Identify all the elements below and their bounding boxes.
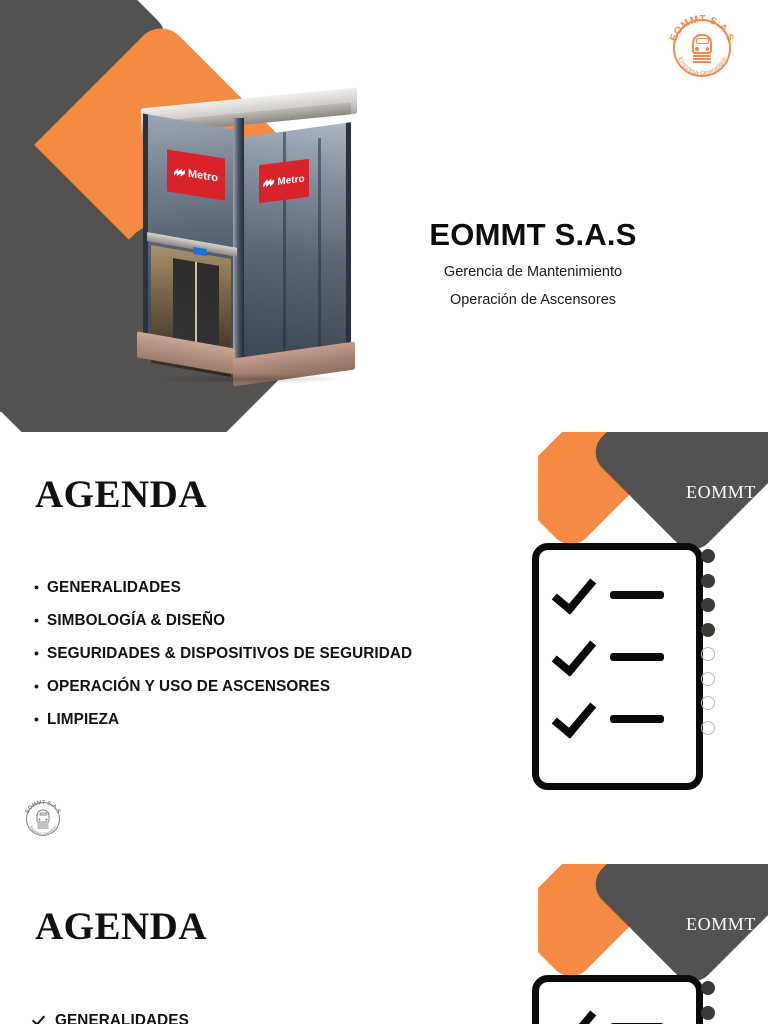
list-item[interactable]: • GENERALIDADES: [34, 580, 514, 596]
checklist-row: [558, 695, 664, 735]
metro-logo-glyph-icon: [174, 168, 185, 178]
metro-sign: Metro: [167, 149, 225, 200]
train-window: [39, 812, 47, 816]
metro-train-icon: [690, 33, 714, 63]
metro-sign: Metro: [259, 159, 309, 203]
train-rail: [693, 61, 711, 63]
binder-dot-hollow: [701, 721, 715, 735]
metro-sign-label: Metro: [188, 168, 218, 185]
checklist-line: [610, 653, 664, 661]
train-window: [696, 38, 709, 44]
corner-brand-label: EOMMT: [686, 482, 756, 503]
agenda-list: GENERALIDADES: [34, 1012, 514, 1024]
train-body: [37, 810, 50, 823]
train-headlight-right: [706, 47, 710, 51]
list-item[interactable]: • LIMPIEZA: [34, 712, 514, 728]
cover-subtitle-line2: Operación de Ascensores: [368, 293, 698, 308]
checklist-clipboard-icon: [532, 975, 727, 1024]
bullet-dot-icon: •: [34, 679, 39, 693]
list-item[interactable]: • SEGURIDADES & DISPOSITIVOS DE SEGURIDA…: [34, 646, 514, 662]
check-icon: [558, 695, 596, 735]
cover-subtitle-line1: Gerencia de Mantenimiento: [368, 265, 698, 280]
checklist-row: [558, 1003, 664, 1024]
checklist-row: [558, 633, 664, 673]
train-headlight-left: [695, 47, 699, 51]
bullet-dot-icon: •: [34, 712, 39, 726]
list-item[interactable]: • SIMBOLOGÍA & DISEÑO: [34, 613, 514, 629]
list-item[interactable]: • OPERACIÓN Y USO DE ASCENSORES: [34, 679, 514, 695]
corner-brand-label: EOMMT: [686, 914, 756, 935]
check-icon: [558, 1003, 596, 1024]
binder-dot-hollow: [701, 696, 715, 710]
metro-sign-label: Metro: [277, 173, 304, 187]
page-title: AGENDA: [35, 904, 207, 949]
train-rail: [693, 55, 711, 57]
binder-dots: [701, 549, 715, 735]
slide-agenda-2: EOMMT AGENDA GENERALIDADES: [0, 864, 768, 1024]
check-icon: [558, 571, 596, 611]
binder-dot-hollow: [701, 647, 715, 661]
bullet-check-icon: [34, 1013, 47, 1024]
binder-dot-filled: [701, 1006, 715, 1020]
binder-dot-filled: [701, 574, 715, 588]
checklist-clipboard-icon: [532, 543, 727, 801]
list-item-label: SIMBOLOGÍA & DISEÑO: [47, 613, 225, 629]
elevator-ground-shadow: [147, 374, 347, 384]
bullet-dot-icon: •: [34, 580, 39, 594]
check-icon: [558, 633, 596, 673]
train-rail: [38, 824, 49, 825]
binder-dot-filled: [701, 549, 715, 563]
binder-dot-hollow: [701, 672, 715, 686]
metro-logo-glyph-icon: [263, 178, 274, 187]
presentation-document: Metro Metro EOMMT S.A.S Gerencia de Mant…: [0, 0, 768, 1024]
train-rail: [38, 826, 49, 827]
elevator-mullion: [318, 138, 321, 356]
slide-agenda-1: EOMMT AGENDA • GENERALIDADES • SIMBOLOGÍ…: [0, 432, 768, 864]
agenda-list: • GENERALIDADES • SIMBOLOGÍA & DISEÑO • …: [34, 580, 514, 745]
elevator-corner-post: [233, 118, 244, 368]
list-item-label: OPERACIÓN Y USO DE ASCENSORES: [47, 679, 330, 695]
cover-decoration: [0, 0, 768, 432]
bullet-dot-icon: •: [34, 613, 39, 627]
slide-cover: Metro Metro EOMMT S.A.S Gerencia de Mant…: [0, 0, 768, 432]
cover-text-block: EOMMT S.A.S Gerencia de Mantenimiento Op…: [368, 218, 698, 307]
train-rail: [38, 828, 49, 829]
train-rail: [693, 58, 711, 60]
list-item[interactable]: GENERALIDADES: [34, 1012, 514, 1024]
bullet-dot-icon: •: [34, 646, 39, 660]
eommt-logo-badge: EOMMT S.A.S Empresa Operadora: [666, 12, 738, 84]
page-title: AGENDA: [35, 472, 207, 517]
checklist-line: [610, 715, 664, 723]
metro-train-icon: [36, 810, 51, 829]
binder-dots: [701, 981, 715, 1024]
binder-dot-filled: [701, 598, 715, 612]
checklist-line: [610, 591, 664, 599]
binder-dot-filled: [701, 623, 715, 637]
list-item-label: SEGURIDADES & DISPOSITIVOS DE SEGURIDAD: [47, 646, 412, 662]
list-item-label: GENERALIDADES: [55, 1013, 189, 1024]
eommt-logo-badge-small: EOMMT S.A.S Empresa Operadora: [22, 798, 64, 840]
binder-dot-filled: [701, 981, 715, 995]
elevator-tower-photo: Metro Metro: [133, 92, 365, 382]
cover-title: EOMMT S.A.S: [368, 218, 698, 252]
list-item-label: LIMPIEZA: [47, 712, 119, 728]
list-item-label: GENERALIDADES: [47, 580, 181, 596]
checklist-row: [558, 571, 664, 611]
